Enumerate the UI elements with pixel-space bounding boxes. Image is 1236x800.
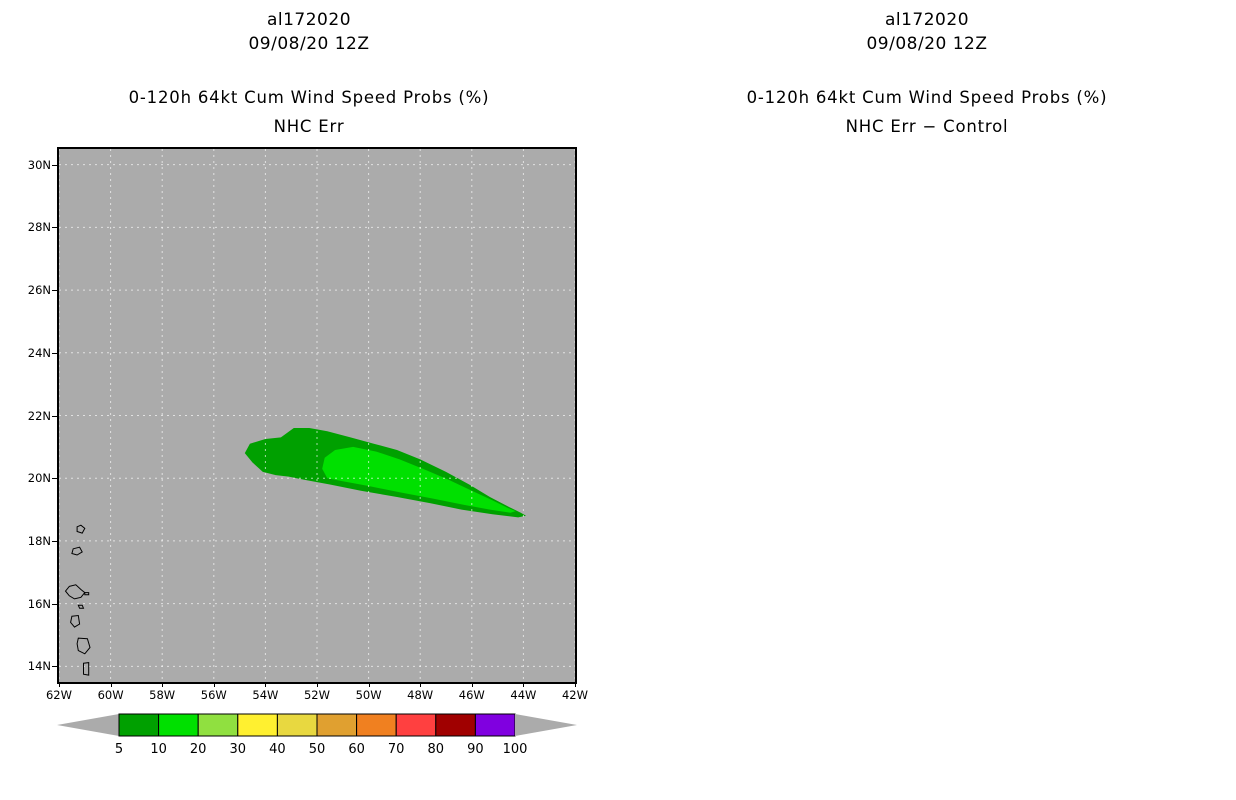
x-axis-tick (265, 682, 266, 687)
panel-right-subtitle: NHC Err − Control (618, 117, 1236, 136)
y-axis-tick (52, 290, 57, 291)
colorbar-swatch[interactable] (317, 714, 357, 736)
y-axis-label: 28N (11, 220, 51, 234)
colorbar-swatch[interactable] (277, 714, 317, 736)
panel-right-title: 0-120h 64kt Cum Wind Speed Probs (%) (618, 88, 1236, 107)
colorbar-left-swatches[interactable] (57, 712, 577, 738)
colorbar-swatch[interactable] (198, 714, 238, 736)
coastline-island (85, 593, 89, 595)
x-axis-label: 60W (91, 688, 131, 702)
coastline-island (72, 547, 82, 555)
coastline-island (66, 585, 85, 599)
y-axis-tick (52, 666, 57, 667)
coastline-island (77, 638, 90, 654)
x-axis-tick (214, 682, 215, 687)
coastlines (59, 149, 575, 682)
y-axis-label: 20N (11, 471, 51, 485)
colorbar-tick-label: 100 (491, 742, 539, 757)
x-axis-tick (59, 682, 60, 687)
colorbar-swatch[interactable] (396, 714, 436, 736)
panel-left-storm-id: al172020 (0, 10, 618, 30)
panel-right-storm-id: al172020 (618, 10, 1236, 30)
x-axis-tick (575, 682, 576, 687)
colorbar-swatch[interactable] (238, 714, 278, 736)
y-axis-label: 26N (11, 283, 51, 297)
x-axis-label: 62W (39, 688, 79, 702)
y-axis-label: 24N (11, 346, 51, 360)
x-axis-tick (162, 682, 163, 687)
colorbar-swatch[interactable] (475, 714, 515, 736)
y-axis-tick (52, 353, 57, 354)
panel-right-datetime: 09/08/20 12Z (618, 34, 1236, 54)
colorbar-probability[interactable]: 5102030405060708090100 (57, 712, 577, 772)
y-axis-tick (52, 478, 57, 479)
x-axis-label: 48W (400, 688, 440, 702)
panel-left-subtitle: NHC Err (0, 117, 618, 136)
plot-area-nhc-err[interactable] (57, 147, 577, 684)
colorbar-arrow-low (57, 714, 119, 736)
panel-left-datetime: 09/08/20 12Z (0, 34, 618, 54)
colorbar-swatch[interactable] (119, 714, 159, 736)
x-axis-label: 54W (245, 688, 285, 702)
y-axis-label: 16N (11, 597, 51, 611)
panel-nhc-err: al172020 09/08/20 12Z 0-120h 64kt Cum Wi… (0, 0, 618, 800)
x-axis-label: 58W (142, 688, 182, 702)
coastline-island (77, 525, 85, 533)
x-axis-tick (523, 682, 524, 687)
x-axis-label: 52W (297, 688, 337, 702)
coastline-island (84, 663, 89, 676)
x-axis-tick (420, 682, 421, 687)
x-axis-tick (369, 682, 370, 687)
y-axis-label: 18N (11, 534, 51, 548)
y-axis-tick (52, 541, 57, 542)
y-axis-label: 22N (11, 409, 51, 423)
y-axis-label: 30N (11, 158, 51, 172)
colorbar-arrow-high (515, 714, 577, 736)
x-axis-label: 42W (555, 688, 595, 702)
colorbar-swatch[interactable] (436, 714, 476, 736)
x-axis-tick (317, 682, 318, 687)
x-axis-tick (111, 682, 112, 687)
panel-left-title: 0-120h 64kt Cum Wind Speed Probs (%) (0, 88, 618, 107)
x-axis-label: 50W (349, 688, 389, 702)
x-axis-label: 56W (194, 688, 234, 702)
x-axis-label: 44W (503, 688, 543, 702)
coastline-island (78, 605, 83, 608)
coastline-island (71, 616, 80, 628)
colorbar-swatch[interactable] (159, 714, 199, 736)
y-axis-tick (52, 227, 57, 228)
panel-nhc-err-minus-control: al172020 09/08/20 12Z 0-120h 64kt Cum Wi… (618, 0, 1236, 800)
y-axis-tick (52, 604, 57, 605)
y-axis-tick (52, 416, 57, 417)
x-axis-label: 46W (452, 688, 492, 702)
y-axis-tick (52, 165, 57, 166)
y-axis-label: 14N (11, 659, 51, 673)
x-axis-tick (472, 682, 473, 687)
colorbar-swatch[interactable] (357, 714, 397, 736)
